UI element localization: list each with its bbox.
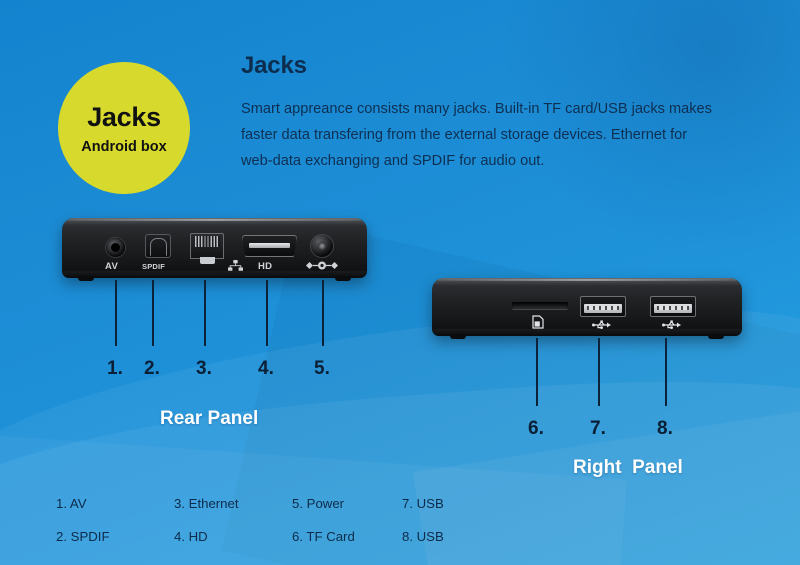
callout-leader-3: [204, 280, 206, 346]
tf-card-slot-icon: [532, 315, 544, 329]
tf-card-slot: [512, 302, 568, 309]
ethernet-pins: [195, 236, 220, 247]
usb-tongue: [584, 304, 622, 313]
legend-item: 6. TF Card: [292, 529, 402, 544]
usb-tongue: [654, 304, 692, 313]
usb-port-2: [650, 296, 696, 317]
right-panel-caption: Right Panel: [573, 457, 683, 479]
callout-number-4: 4.: [258, 358, 274, 380]
badge-subtitle: Android box: [81, 139, 166, 155]
device-body: AV SPDIF HD: [62, 218, 367, 278]
spdif-port: [145, 234, 171, 258]
callout-number-1: 1.: [107, 358, 123, 380]
legend-item: 4. HD: [174, 529, 292, 544]
device-top-highlight: [438, 279, 736, 281]
device-foot: [708, 334, 724, 339]
right-panel-device: [432, 278, 742, 336]
device-bottom-lip: [62, 271, 367, 278]
device-body: [432, 278, 742, 336]
callout-number-2: 2.: [144, 358, 160, 380]
device-top-edge: [432, 278, 742, 286]
callout-leader-1: [115, 280, 117, 346]
ethernet-network-icon: [228, 260, 243, 271]
callout-leader-5: [322, 280, 324, 346]
callout-leader-2: [152, 280, 154, 346]
dc-power-polarity-icon: [305, 261, 339, 270]
usb-port-icon: [592, 320, 614, 330]
page-title: Jacks: [241, 52, 307, 80]
callout-leader-6: [536, 338, 538, 406]
av-port-label: AV: [105, 261, 118, 272]
legend-item: 7. USB: [402, 496, 476, 511]
rear-panel-device: AV SPDIF HD: [62, 218, 367, 278]
callout-leader-8: [665, 338, 667, 406]
device-top-highlight: [68, 219, 361, 221]
hdmi-port-label: HD: [258, 261, 272, 272]
legend-item: 3. Ethernet: [174, 496, 292, 511]
device-foot: [78, 276, 94, 281]
power-port: [311, 235, 333, 257]
description-paragraph: Smart appreance consists many jacks. Bui…: [241, 96, 721, 174]
legend-item: 1. AV: [56, 496, 174, 511]
hdmi-tongue: [249, 243, 290, 248]
callout-leader-4: [266, 280, 268, 346]
callout-number-5: 5.: [314, 358, 330, 380]
device-bottom-lip: [432, 329, 742, 336]
callout-number-8: 8.: [657, 418, 673, 440]
hdmi-port: [242, 235, 297, 257]
callout-number-6: 6.: [528, 418, 544, 440]
legend-item: 5. Power: [292, 496, 402, 511]
port-legend: 1. AV 3. Ethernet 5. Power 7. USB 2. SPD…: [56, 487, 476, 553]
product-infographic-page: Jacks Android box Jacks Smart appreance …: [0, 0, 800, 565]
ethernet-port: [190, 233, 224, 259]
device-foot: [335, 276, 351, 281]
rear-panel-caption: Rear Panel: [160, 408, 258, 430]
usb-port-icon: [662, 320, 684, 330]
usb-port-1: [580, 296, 626, 317]
callout-number-3: 3.: [196, 358, 212, 380]
callout-number-7: 7.: [590, 418, 606, 440]
callout-leader-7: [598, 338, 600, 406]
legend-item: 2. SPDIF: [56, 529, 174, 544]
device-top-edge: [62, 218, 367, 226]
badge-title: Jacks: [87, 102, 161, 133]
ethernet-latch: [200, 257, 215, 264]
spdif-port-label: SPDIF: [142, 262, 165, 271]
jacks-badge: Jacks Android box: [58, 62, 190, 194]
legend-item: 8. USB: [402, 529, 476, 544]
device-foot: [450, 334, 466, 339]
av-port: [106, 238, 125, 257]
